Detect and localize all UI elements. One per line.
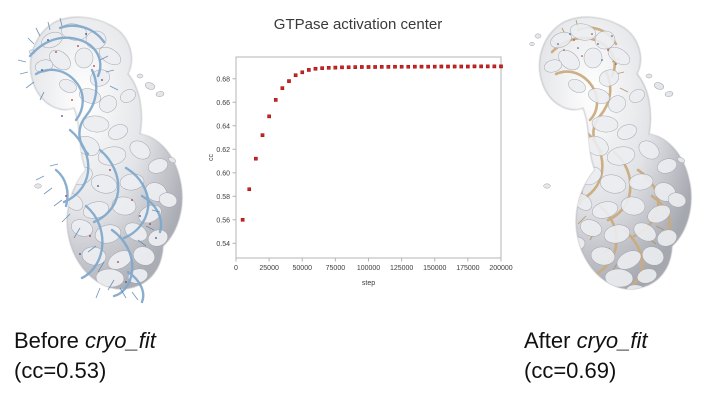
x-tick-label: 150000 <box>423 265 446 272</box>
before-caption: Before cryo_fit (cc=0.53) <box>14 326 156 387</box>
y-tick-label: 0.54 <box>216 241 230 248</box>
figure-root: GTPase activation center 025000500007500… <box>0 0 720 409</box>
data-point <box>393 65 396 68</box>
after-caption: After cryo_fit (cc=0.69) <box>524 326 648 387</box>
data-point <box>287 79 290 82</box>
data-point <box>413 65 416 68</box>
data-point <box>427 65 430 68</box>
x-tick-label: 75000 <box>326 265 346 272</box>
data-point <box>347 66 350 69</box>
y-axis-label: cc <box>208 154 215 162</box>
data-point <box>354 66 357 69</box>
data-point <box>473 65 476 68</box>
data-point <box>314 67 317 70</box>
after-caption-prefix: After <box>524 328 577 353</box>
before-caption-tool-name: cryo_fit <box>85 328 156 353</box>
data-point <box>360 65 363 68</box>
cc-vs-step-chart: GTPase activation center 025000500007500… <box>203 8 513 298</box>
before-caption-prefix: Before <box>14 328 85 353</box>
data-point <box>281 87 284 90</box>
x-tick-label: 125000 <box>390 265 413 272</box>
data-point <box>387 65 390 68</box>
data-point <box>466 65 469 68</box>
x-tick-label: 100000 <box>357 265 380 272</box>
data-point <box>400 65 403 68</box>
data-point <box>380 65 383 68</box>
data-point <box>486 65 489 68</box>
x-axis-label: step <box>362 280 375 287</box>
before-structure-image <box>0 0 210 320</box>
data-point <box>301 71 304 74</box>
y-tick-label: 0.60 <box>216 170 230 177</box>
after-structure-render <box>512 0 720 320</box>
before-structure-render <box>0 0 210 320</box>
y-tick-label: 0.68 <box>216 76 230 83</box>
data-point <box>453 65 456 68</box>
data-point <box>294 74 297 77</box>
y-tick-label: 0.62 <box>216 147 230 154</box>
data-point <box>274 98 277 101</box>
x-tick-label: 50000 <box>293 265 313 272</box>
data-point <box>261 134 264 137</box>
data-point <box>480 65 483 68</box>
data-point <box>268 115 271 118</box>
data-point <box>248 188 251 191</box>
data-point <box>374 65 377 68</box>
data-point <box>367 65 370 68</box>
y-tick-label: 0.66 <box>216 100 230 107</box>
y-tick-label: 0.58 <box>216 194 230 201</box>
data-point <box>446 65 449 68</box>
data-point <box>460 65 463 68</box>
before-caption-cc: (cc=0.53) <box>14 356 156 386</box>
data-point <box>433 65 436 68</box>
data-point <box>340 66 343 69</box>
y-tick-label: 0.64 <box>216 123 230 130</box>
plot-frame <box>236 57 501 258</box>
data-point <box>407 65 410 68</box>
data-point <box>321 67 324 70</box>
x-tick-label: 25000 <box>259 265 279 272</box>
after-structure-image <box>512 0 720 320</box>
chart-svg: 0250005000075000100000125000150000175000… <box>203 8 513 298</box>
data-point <box>241 218 244 221</box>
y-tick-label: 0.56 <box>216 217 230 224</box>
data-point <box>493 65 496 68</box>
data-point <box>440 65 443 68</box>
after-caption-tool-name: cryo_fit <box>577 328 648 353</box>
data-point <box>327 66 330 69</box>
data-point <box>420 65 423 68</box>
data-point <box>254 157 257 160</box>
x-tick-label: 175000 <box>456 265 479 272</box>
after-caption-cc: (cc=0.69) <box>524 356 648 386</box>
x-tick-label: 200000 <box>489 265 512 272</box>
x-tick-label: 0 <box>234 265 238 272</box>
data-point <box>334 66 337 69</box>
data-point <box>499 65 502 68</box>
data-point <box>307 68 310 71</box>
